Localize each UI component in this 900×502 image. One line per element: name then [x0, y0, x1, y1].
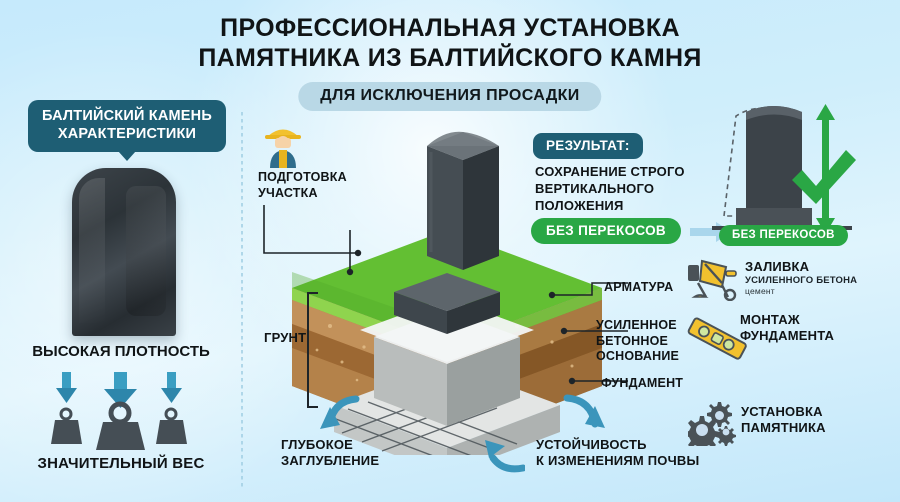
prep-line-1: ПОДГОТОВКА	[258, 170, 347, 186]
right-no-skew-pill: БЕЗ ПЕРЕКОСОВ	[719, 225, 848, 246]
result-line-2: ВЕРТИКАЛЬНОГО	[535, 180, 725, 197]
weights-diagram	[40, 372, 205, 450]
callout-base-line-1: УСИЛЕННОЕ	[596, 318, 679, 334]
upright-monument	[746, 106, 802, 208]
step-pouring-sub2: цемент	[745, 286, 857, 296]
result-line-3: ПОЛОЖЕНИЯ	[535, 197, 725, 214]
curved-arrow-left-icon	[318, 395, 360, 437]
step-pouring: ЗАЛИВКА УСИЛЕННОГО БЕТОНА цемент	[745, 259, 857, 296]
caption-significant-weight: ЗНАЧИТЕЛЬНЫЙ ВЕС	[0, 455, 242, 472]
weight-small-icon	[51, 409, 82, 444]
callout-base-line-2: БЕТОННОЕ	[596, 334, 679, 350]
soil-depth-bracket	[307, 292, 318, 408]
stab-line-2: К ИЗМЕНЕНИЯМ ПОЧВЫ	[536, 453, 699, 469]
title-line-2: ПАМЯТНИКА ИЗ БАЛТИЙСКОГО КАМНЯ	[0, 44, 900, 74]
deep-line-2: ЗАГЛУБЛЕНИЕ	[281, 453, 379, 469]
result-line-1: СОХРАНЕНИЕ СТРОГО	[535, 163, 725, 180]
step-pouring-sub: УСИЛЕННОГО БЕТОНА	[745, 275, 857, 286]
monument-base	[736, 208, 812, 226]
prep-line-2: УЧАСТКА	[258, 186, 347, 202]
concrete-mixer-icon	[686, 255, 742, 301]
label-site-preparation: ПОДГОТОВКА УЧАСТКА	[258, 170, 347, 201]
weight-large-icon	[96, 404, 145, 450]
step-monument-installation: УСТАНОВКА ПАМЯТНИКА	[741, 404, 826, 436]
caption-high-density: ВЫСОКАЯ ПЛОТНОСТЬ	[0, 343, 242, 360]
left-badge-line-1: БАЛТИЙСКИЙ КАМЕНЬ	[32, 108, 222, 126]
callout-reinforced-base: УСИЛЕННОЕ БЕТОННОЕ ОСНОВАНИЕ	[596, 318, 679, 365]
page-title: ПРОФЕССИОНАЛЬНАЯ УСТАНОВКА ПАМЯТНИКА ИЗ …	[0, 14, 900, 73]
central-monument-stele	[405, 128, 515, 278]
result-text: СОХРАНЕНИЕ СТРОГО ВЕРТИКАЛЬНОГО ПОЛОЖЕНИ…	[535, 163, 725, 214]
result-no-skew-pill: БЕЗ ПЕРЕКОСОВ	[531, 218, 681, 244]
weight-small-icon	[156, 409, 187, 444]
step-foundation-mounting: МОНТАЖ ФУНДАМЕНТА	[740, 312, 834, 344]
title-line-1: ПРОФЕССИОНАЛЬНАЯ УСТАНОВКА	[0, 14, 900, 44]
vertical-position-illustration	[706, 98, 866, 238]
worker-helmet-icon	[262, 122, 304, 168]
callout-rebar: АРМАТУРА	[604, 280, 673, 296]
callout-foundation: ФУНДАМЕНТ	[601, 376, 683, 392]
caption-soil-stability: УСТОЙЧИВОСТЬ К ИЗМЕНЕНИЯМ ПОЧВЫ	[536, 437, 699, 470]
curved-arrow-middle-icon	[483, 432, 525, 474]
step-mount-line-1: МОНТАЖ	[740, 312, 834, 328]
stab-line-1: УСТОЙЧИВОСТЬ	[536, 437, 699, 453]
left-badge-line-2: ХАРАКТЕРИСТИКИ	[32, 126, 222, 144]
callout-base-line-3: ОСНОВАНИЕ	[596, 349, 679, 365]
step-install-line-2: ПАМЯТНИКА	[741, 420, 826, 436]
vertical-dotted-divider	[241, 112, 243, 490]
caption-deep-embedding: ГЛУБОКОЕ ЗАГЛУБЛЕНИЕ	[281, 437, 379, 470]
step-install-line-1: УСТАНОВКА	[741, 404, 826, 420]
step-mount-line-2: ФУНДАМЕНТА	[740, 328, 834, 344]
step-pouring-title: ЗАЛИВКА	[745, 259, 857, 275]
curved-arrow-right-icon	[563, 392, 607, 436]
subtitle-pill: ДЛЯ ИСКЛЮЧЕНИЯ ПРОСАДКИ	[298, 82, 601, 111]
baltic-stone-sample	[72, 168, 176, 336]
spirit-level-icon	[686, 312, 748, 366]
left-panel-badge: БАЛТИЙСКИЙ КАМЕНЬ ХАРАКТЕРИСТИКИ	[28, 100, 226, 152]
result-badge: РЕЗУЛЬТАТ:	[533, 133, 643, 159]
label-soil: ГРУНТ	[264, 330, 306, 345]
infographic-canvas: ПРОФЕССИОНАЛЬНАЯ УСТАНОВКА ПАМЯТНИКА ИЗ …	[0, 0, 900, 502]
deep-line-1: ГЛУБОКОЕ	[281, 437, 379, 453]
